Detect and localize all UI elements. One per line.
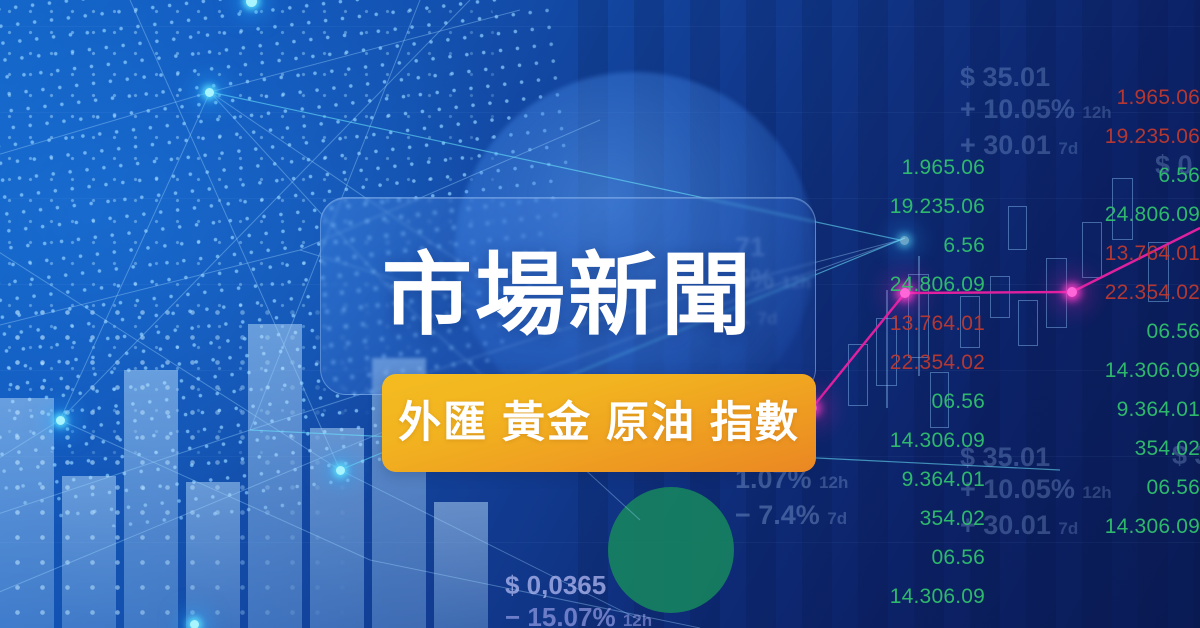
banner-canvas: $ 35.01 + 10.05% 12h + 30.01 7d $ 35.01 …	[0, 0, 1200, 628]
ticker-value: 14.306.09	[985, 507, 1200, 546]
ticker-value: 19.235.06	[985, 117, 1200, 156]
category-badge[interactable]: 外匯 黃金 原油 指數	[382, 374, 816, 472]
ticker-value: 1.965.06	[985, 78, 1200, 117]
ticker-value: 1.965.06	[760, 148, 985, 187]
ticker-value: 14.306.09	[985, 351, 1200, 390]
ticker-value: 06.56	[985, 468, 1200, 507]
ticker-value: 14.306.09	[760, 577, 985, 616]
ticker-column-right: 1.965.0619.235.066.5624.806.0913.764.012…	[985, 78, 1200, 546]
ticker-value: 06.56	[760, 538, 985, 577]
category-badge-label: 外匯 黃金 原油 指數	[398, 402, 800, 445]
ticker-value: 06.56	[985, 312, 1200, 351]
ticker-value: 24.806.09	[985, 195, 1200, 234]
ticker-value: 13.764.01	[985, 234, 1200, 273]
stat-price: $ 0,0365	[505, 570, 652, 601]
ticker-value: 9.364.01	[985, 390, 1200, 429]
ticker-value: 22.354.02	[985, 273, 1200, 312]
ticker-value: 354.02	[760, 499, 985, 538]
ticker-value: 354.02	[985, 429, 1200, 468]
stat-block-bottom-left: $ 0,0365 − 15.07% 12h	[505, 570, 652, 628]
page-title: 市場新聞	[320, 197, 816, 395]
stat-change-12h: − 15.07% 12h	[505, 601, 652, 628]
ticker-value: 6.56	[985, 156, 1200, 195]
